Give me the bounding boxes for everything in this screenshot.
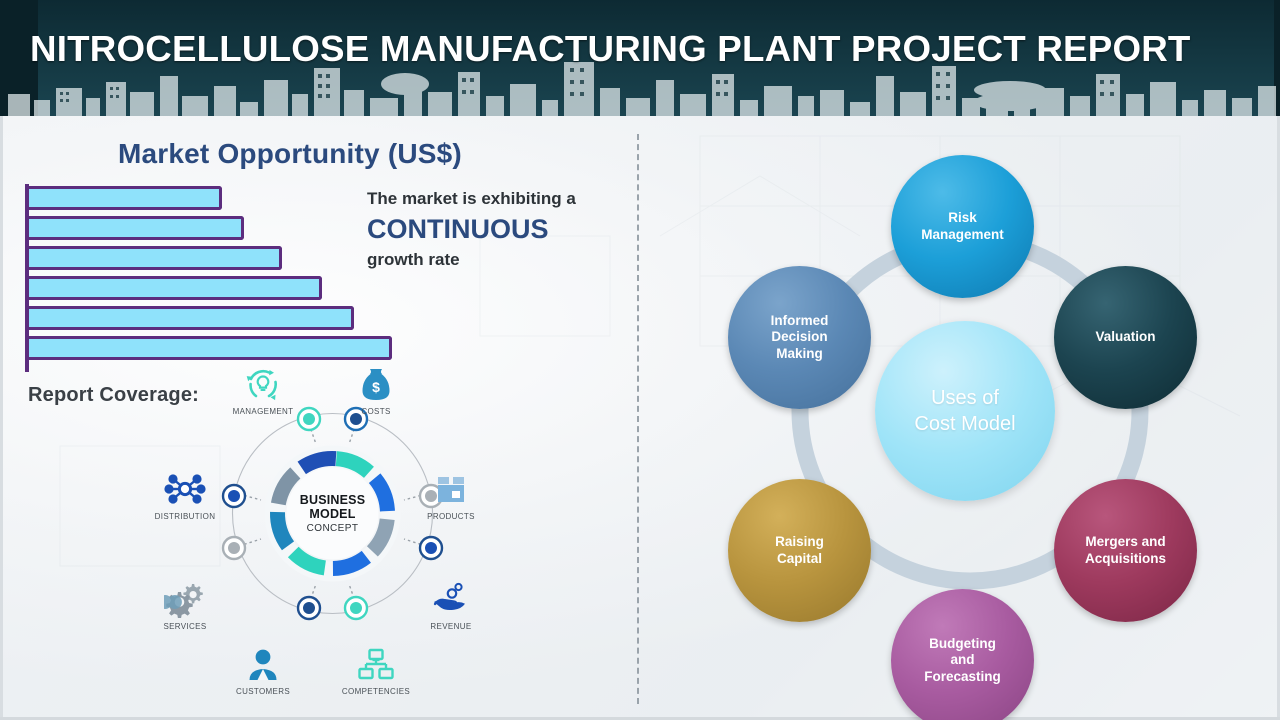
coverage-item-services[interactable]: SERVICES — [137, 576, 233, 631]
coverage-item-management[interactable]: MANAGEMENT — [215, 361, 311, 416]
uses-of-cost-model-diagram: RiskManagement Valuation Mergers andAcqu… — [690, 141, 1250, 686]
svg-text:$: $ — [372, 379, 380, 395]
node-center-uses-of-cost-model[interactable]: Uses ofCost Model — [875, 321, 1055, 501]
coverage-label-products: PRODUCTS — [403, 512, 499, 521]
coverage-label-customers: CUSTOMERS — [215, 687, 311, 696]
node-label-risk-management: RiskManagement — [915, 210, 1010, 243]
node-label-mergers-acquisitions: Mergers andAcquisitions — [1079, 534, 1172, 567]
bar-4 — [29, 276, 322, 300]
node-valuation[interactable]: Valuation — [1054, 266, 1197, 409]
growth-statement: The market is exhibiting a CONTINUOUS gr… — [367, 188, 635, 270]
growth-line-3: growth rate — [367, 249, 635, 270]
node-informed-decision-making[interactable]: InformedDecisionMaking — [728, 266, 871, 409]
report-coverage-diagram: BUSINESS MODEL CONCEPT — [140, 371, 520, 711]
coverage-item-products[interactable]: PRODUCTS — [403, 466, 499, 521]
bar-5 — [29, 306, 354, 330]
coverage-label-competencies: COMPETENCIES — [328, 687, 424, 696]
hand-coins-icon — [403, 576, 499, 618]
business-model-wheel — [260, 441, 405, 586]
node-label-valuation: Valuation — [1089, 329, 1161, 345]
panel-divider — [637, 134, 639, 704]
bar-6 — [29, 336, 392, 360]
coverage-item-distribution[interactable]: DISTRIBUTION — [137, 466, 233, 521]
money-bag-icon: $ — [328, 361, 424, 403]
coverage-item-customers[interactable]: CUSTOMERS — [215, 641, 311, 696]
coverage-label-services: SERVICES — [137, 622, 233, 631]
growth-line-2-highlight: CONTINUOUS — [367, 211, 635, 247]
coverage-item-revenue[interactable]: REVENUE — [403, 576, 499, 631]
slide-body: Market Opportunity (US$) The market is e… — [0, 116, 1280, 720]
coverage-label-costs: COSTS — [328, 407, 424, 416]
bar-2 — [29, 216, 244, 240]
growth-line-1: The market is exhibiting a — [367, 188, 635, 209]
coverage-item-costs[interactable]: $ COSTS — [328, 361, 424, 416]
node-budgeting-forecasting[interactable]: BudgetingandForecasting — [891, 589, 1034, 720]
canvas-left-border — [0, 116, 3, 720]
coverage-label-revenue: REVENUE — [403, 622, 499, 631]
node-label-budgeting-forecasting: BudgetingandForecasting — [918, 636, 1007, 685]
coverage-item-competencies[interactable]: COMPETENCIES — [328, 641, 424, 696]
market-opportunity-bar-chart — [25, 184, 425, 372]
chart-title: Market Opportunity (US$) — [118, 138, 462, 170]
coverage-label-management: MANAGEMENT — [215, 407, 311, 416]
node-risk-management[interactable]: RiskManagement — [891, 155, 1034, 298]
network-hub-icon — [137, 466, 233, 508]
bar-3 — [29, 246, 282, 270]
node-label-raising-capital: RaisingCapital — [769, 534, 830, 567]
user-person-icon — [215, 641, 311, 683]
gears-icon — [137, 576, 233, 618]
node-label-center: Uses ofCost Model — [908, 385, 1021, 437]
recycle-lightbulb-icon — [215, 361, 311, 403]
org-chart-icon — [328, 641, 424, 683]
node-mergers-acquisitions[interactable]: Mergers andAcquisitions — [1054, 479, 1197, 622]
box-package-icon — [403, 466, 499, 508]
node-label-informed-decision-making: InformedDecisionMaking — [765, 313, 835, 362]
node-raising-capital[interactable]: RaisingCapital — [728, 479, 871, 622]
coverage-label-distribution: DISTRIBUTION — [137, 512, 233, 521]
page-header: NITROCELLULOSE MANUFACTURING PLANT PROJE… — [0, 0, 1280, 116]
page-title: NITROCELLULOSE MANUFACTURING PLANT PROJE… — [30, 28, 1274, 70]
bar-1 — [29, 186, 222, 210]
